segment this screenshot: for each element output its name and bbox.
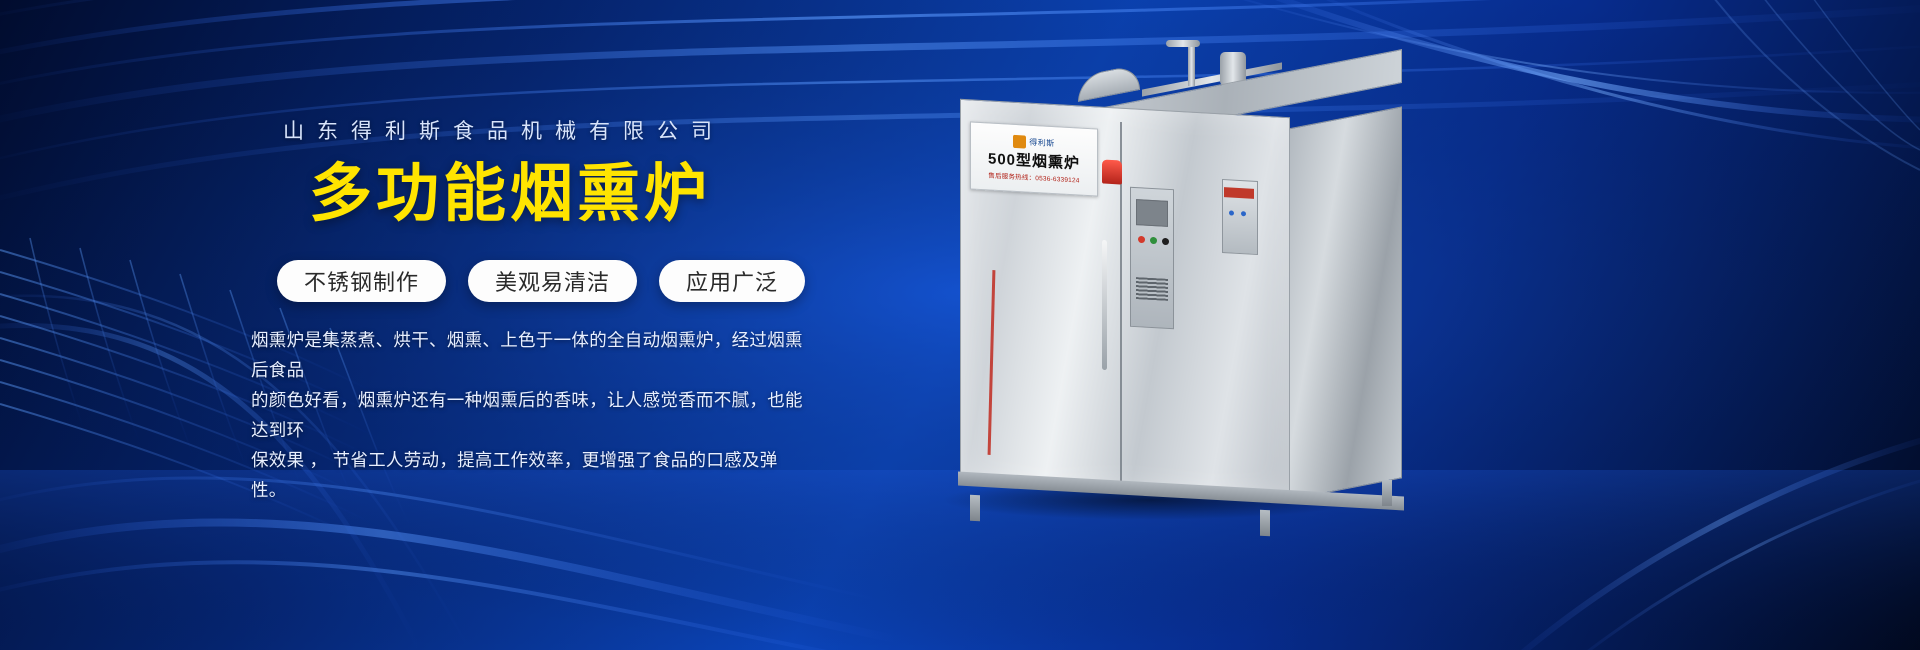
description-line-2: 的颜色好看，烟熏炉还有一种烟熏后的香味，让人感觉香而不腻，也能达到环 — [251, 385, 811, 445]
control-button-red[interactable] — [1138, 236, 1145, 243]
oven-side-panel — [1282, 106, 1402, 501]
control-display-screen — [1136, 199, 1168, 227]
description-paragraph: 烟熏炉是集蒸煮、烘干、烟熏、上色于一体的全自动烟熏炉，经过烟熏后食品 的颜色好看… — [251, 325, 811, 505]
oven-door-handle[interactable] — [1102, 240, 1107, 370]
control-vent-grille — [1136, 277, 1168, 301]
product-nameplate: 得利斯 500型烟熏炉 售后服务热线：0536-6339124 — [970, 121, 1098, 196]
indicator-light-icon — [1229, 210, 1234, 215]
feature-pill-stainless[interactable]: 不锈钢制作 — [277, 260, 446, 302]
page-title: 多功能烟熏炉 — [309, 163, 711, 226]
company-name: 山东得利斯食品机械有限公司 — [283, 115, 803, 145]
control-button-green[interactable] — [1150, 237, 1157, 244]
roof-pipe-vertical — [1188, 46, 1195, 86]
nameplate-brand: 得利斯 — [1029, 137, 1055, 149]
hero-copy: 山东得利斯食品机械有限公司 多功能烟熏炉 不锈钢制作 美观易清洁 应用广泛 烟熏… — [0, 0, 860, 650]
oven-leg-right — [1260, 510, 1270, 537]
oven-leg-rear — [1382, 480, 1392, 506]
feature-pill-wide-use[interactable]: 应用广泛 — [659, 260, 805, 302]
junction-box-red-tag — [1224, 187, 1254, 199]
brand-logo-icon — [1013, 135, 1026, 149]
roof-valve-wheel — [1166, 40, 1200, 47]
oven-leg-left — [970, 495, 980, 522]
description-line-1: 烟熏炉是集蒸煮、烘干、烟熏、上色于一体的全自动烟熏炉，经过烟熏后食品 — [251, 325, 811, 385]
hero-banner: 山东得利斯食品机械有限公司 多功能烟熏炉 不锈钢制作 美观易清洁 应用广泛 烟熏… — [0, 0, 1920, 650]
indicator-light-icon-2 — [1241, 211, 1246, 216]
feature-pill-easy-clean[interactable]: 美观易清洁 — [468, 260, 637, 302]
product-photo-smokehouse-oven: 得利斯 500型烟熏炉 售后服务热线：0536-6339124 — [930, 40, 1490, 540]
roof-vent-hood — [1078, 64, 1140, 102]
description-line-3: 保效果 ， 节省工人劳动，提高工作效率，更增强了食品的口感及弹性。 — [251, 445, 811, 505]
control-knob[interactable] — [1162, 238, 1169, 245]
alarm-beacon-icon — [1102, 159, 1122, 184]
feature-pill-group: 不锈钢制作 美观易清洁 应用广泛 — [277, 260, 805, 302]
nameplate-brand-row: 得利斯 — [1013, 135, 1055, 150]
